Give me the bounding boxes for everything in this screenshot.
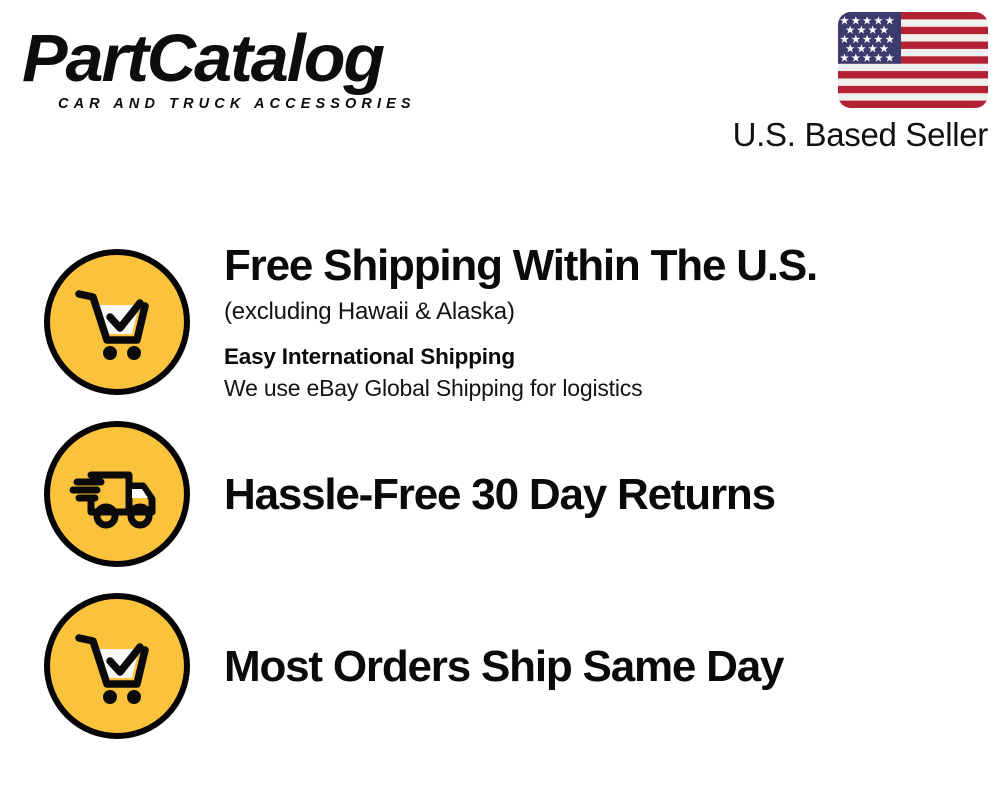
brand-tagline: CAR AND TRUCK ACCESSORIES [58, 96, 492, 112]
brand-logo: PartCatalog CAR AND TRUCK ACCESSORIES [22, 24, 492, 116]
delivery-truck-icon [44, 421, 190, 567]
shopping-cart-check-icon [44, 593, 190, 739]
brand-wordmark: PartCatalog [22, 24, 501, 94]
feature-title: Hassle-Free 30 Day Returns [224, 472, 1000, 519]
feature-title: Free Shipping Within The U.S. [224, 243, 1000, 290]
feature-sub-title: Easy International Shipping [224, 343, 1000, 370]
promo-banner: PartCatalog CAR AND TRUCK ACCESSORIES [0, 0, 1000, 800]
us-based-seller-label: U.S. Based Seller [733, 116, 988, 154]
feature-text-block: Free Shipping Within The U.S. (excluding… [224, 241, 1000, 402]
us-flag-icon [838, 12, 988, 108]
feature-sub-note: We use eBay Global Shipping for logistic… [224, 374, 1000, 403]
feature-title: Most Orders Ship Same Day [224, 644, 1000, 691]
feature-row: Free Shipping Within The U.S. (excluding… [0, 249, 1000, 395]
shopping-cart-check-icon [44, 249, 190, 395]
feature-text-block: Most Orders Ship Same Day [224, 642, 1000, 691]
feature-note: (excluding Hawaii & Alaska) [224, 297, 1000, 327]
feature-row: Most Orders Ship Same Day [0, 593, 1000, 739]
banner-header: PartCatalog CAR AND TRUCK ACCESSORIES [0, 0, 1000, 175]
feature-row: Hassle-Free 30 Day Returns [0, 421, 1000, 567]
feature-text-block: Hassle-Free 30 Day Returns [224, 470, 1000, 519]
